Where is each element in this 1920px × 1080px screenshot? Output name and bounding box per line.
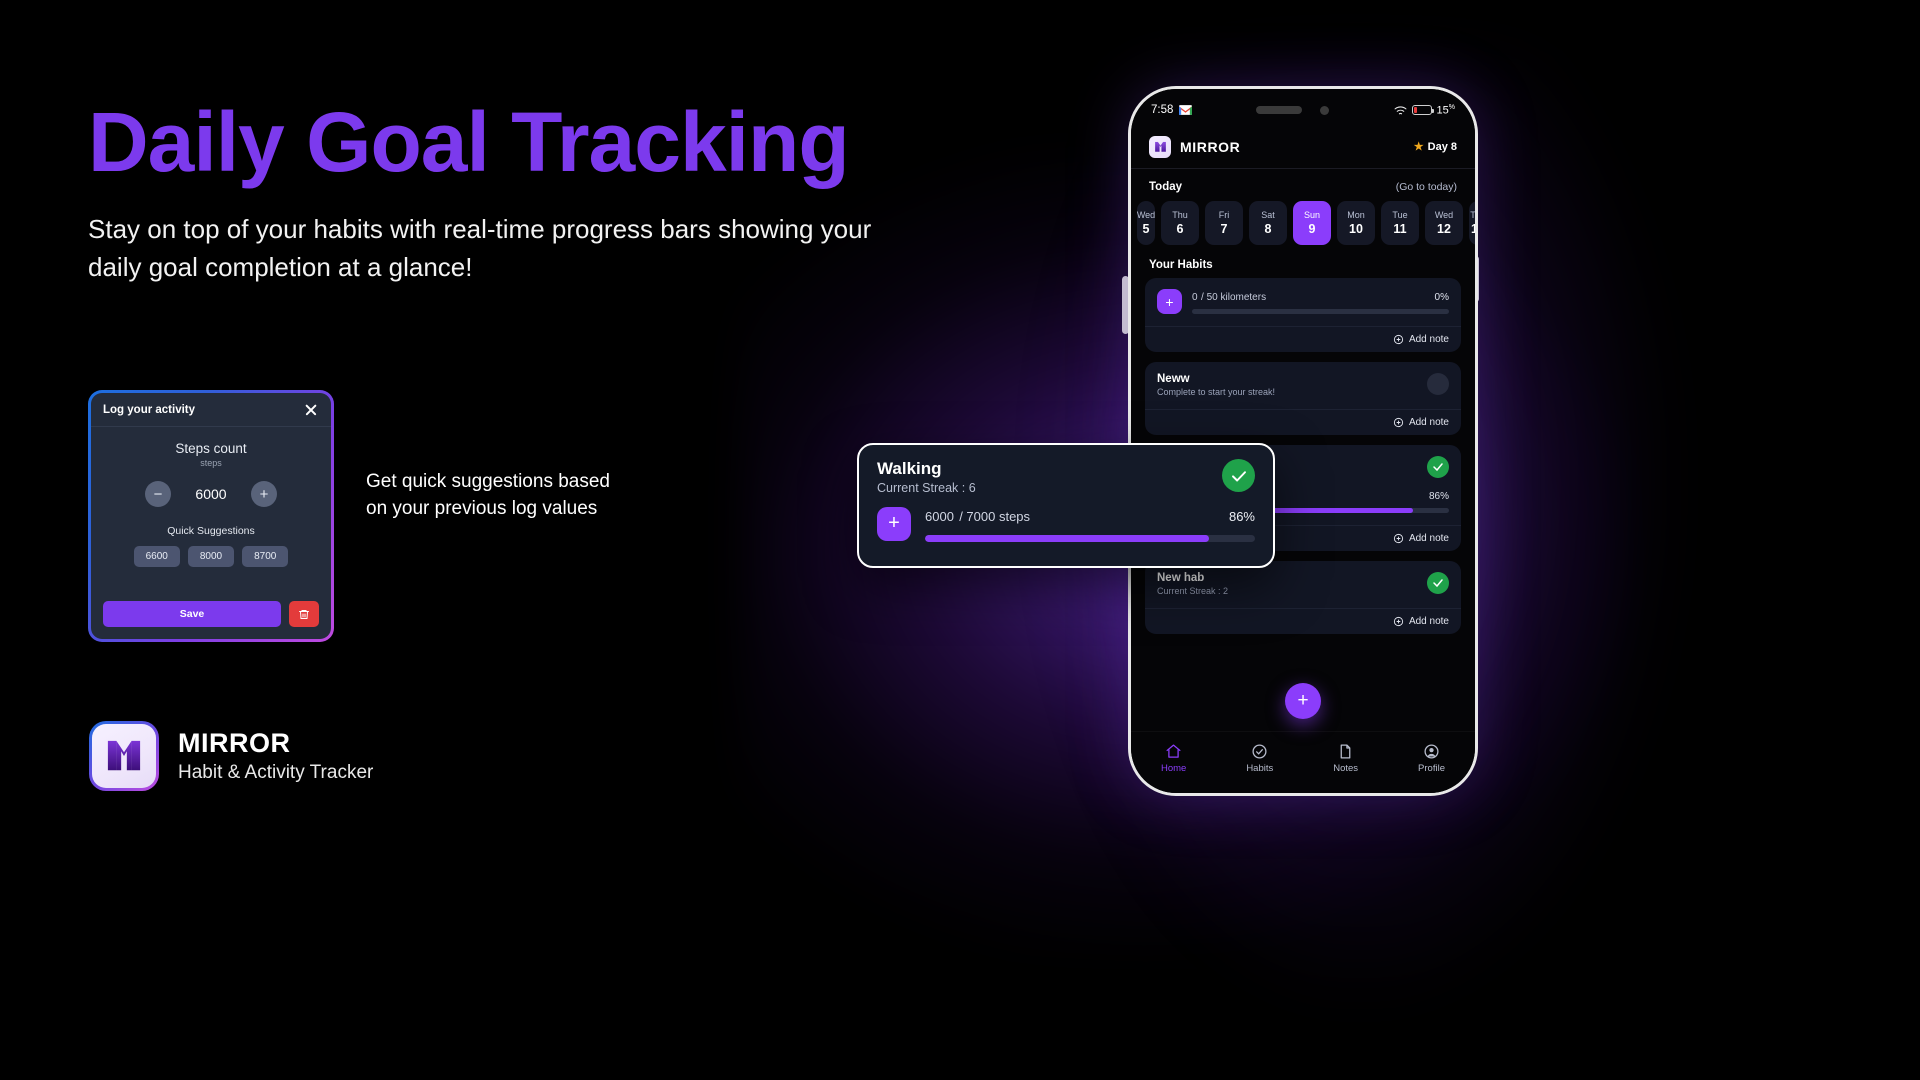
quick-suggestions-row: 6600 8000 8700 <box>103 546 319 567</box>
gmail-icon <box>1179 105 1192 115</box>
headline-block: Daily Goal Tracking Stay on top of your … <box>88 96 908 286</box>
decrement-button[interactable]: − <box>145 481 171 507</box>
habit-name: Neww <box>1157 373 1275 385</box>
nav-label: Habits <box>1246 763 1273 774</box>
suggestion-chip[interactable]: 8700 <box>242 546 288 567</box>
nav-item-profile[interactable]: Profile <box>1418 743 1445 774</box>
add-note-label: Add note <box>1409 417 1449 428</box>
status-bar: 7:58 15% <box>1131 89 1475 125</box>
habits-section-title: Your Habits <box>1131 255 1475 278</box>
app-logo <box>1149 136 1171 158</box>
habit-complete-toggle[interactable] <box>1427 572 1449 594</box>
person-icon <box>1423 743 1440 760</box>
plus-circle-icon <box>1393 417 1404 428</box>
date-dow: Thu <box>1470 210 1475 220</box>
plus-circle-icon <box>1393 616 1404 627</box>
date-dow: Sat <box>1261 210 1275 220</box>
mirror-logo-icon <box>105 738 143 774</box>
today-row: Today (Go to today) <box>1131 169 1475 201</box>
date-num: 10 <box>1349 222 1363 236</box>
habit-complete-toggle[interactable] <box>1427 456 1449 478</box>
habit-subtitle: Complete to start your streak! <box>1157 387 1275 397</box>
habit-value: 0 <box>1192 292 1198 303</box>
add-note-button[interactable]: Add note <box>1145 409 1461 435</box>
nav-label: Home <box>1161 763 1186 774</box>
suggestion-chip[interactable]: 8000 <box>188 546 234 567</box>
date-num: 12 <box>1437 222 1451 236</box>
document-icon <box>1337 743 1354 760</box>
day-streak-badge: ★ Day 8 <box>1414 140 1457 153</box>
date-dow: Thu <box>1172 210 1188 220</box>
habit-percent: 0% <box>1435 292 1449 303</box>
date-num: 13 <box>1471 222 1475 236</box>
add-note-label: Add note <box>1409 616 1449 627</box>
date-num: 7 <box>1221 222 1228 236</box>
phone-mockup: 7:58 15% <box>1128 86 1478 796</box>
date-num: 6 <box>1177 222 1184 236</box>
date-num: 5 <box>1143 222 1150 236</box>
habit-card[interactable]: New hab Current Streak : 2 Add note <box>1145 561 1461 634</box>
field-label: Steps count <box>103 441 319 456</box>
date-dow: Sun <box>1304 210 1320 220</box>
suggestion-chip[interactable]: 6600 <box>134 546 180 567</box>
card-streak: Current Streak : 6 <box>877 481 976 495</box>
battery-unit: % <box>1449 104 1455 111</box>
page-subtitle: Stay on top of your habits with real-tim… <box>88 210 908 286</box>
check-icon <box>1432 577 1444 589</box>
progress-bar <box>1192 309 1449 314</box>
card-value: 6000 <box>925 509 954 524</box>
date-chip[interactable]: Wed 12 <box>1425 201 1463 245</box>
home-icon <box>1165 743 1182 760</box>
plus-circle-icon <box>1393 334 1404 345</box>
app-name: MIRROR <box>1180 139 1240 155</box>
close-icon[interactable] <box>303 402 319 418</box>
date-chip[interactable]: Thu 13 <box>1469 201 1475 245</box>
date-dow: Mon <box>1347 210 1365 220</box>
nav-label: Profile <box>1418 763 1445 774</box>
phone-camera <box>1320 106 1329 115</box>
habit-complete-toggle[interactable] <box>1427 373 1449 395</box>
brand-name: MIRROR <box>178 728 373 759</box>
date-chip[interactable]: Fri 7 <box>1205 201 1243 245</box>
today-label: Today <box>1149 181 1182 193</box>
date-strip[interactable]: Wed 5 Thu 6 Fri 7 Sat 8 Sun 9 Mon 10 <box>1131 201 1475 255</box>
card-habit-name: Walking <box>877 459 976 479</box>
habit-card[interactable]: Neww Complete to start your streak! Add … <box>1145 362 1461 435</box>
check-icon <box>1432 461 1444 473</box>
habit-target: / 50 kilometers <box>1201 292 1266 303</box>
habit-percent: 86% <box>1429 491 1449 502</box>
app-header: MIRROR ★ Day 8 <box>1131 125 1475 169</box>
add-note-label: Add note <box>1409 533 1449 544</box>
date-num: 8 <box>1265 222 1272 236</box>
card-percent: 86% <box>1229 509 1255 524</box>
habit-name: New hab <box>1157 572 1228 584</box>
check-circle-icon <box>1251 743 1268 760</box>
card-complete-toggle[interactable] <box>1222 459 1255 492</box>
date-dow: Wed <box>1435 210 1453 220</box>
brand-lockup: MIRROR Habit & Activity Tracker <box>89 721 373 791</box>
battery-level: 15 <box>1437 104 1449 116</box>
quantity-stepper: − 6000 + <box>103 481 319 507</box>
day-label: Day 8 <box>1428 141 1457 153</box>
date-chip[interactable]: Sat 8 <box>1249 201 1287 245</box>
mirror-logo-icon <box>1154 141 1167 153</box>
card-target: / 7000 steps <box>959 509 1030 524</box>
battery-low-icon <box>1412 105 1432 115</box>
status-time: 7:58 <box>1151 104 1173 116</box>
suggestion-caption: Get quick suggestions based on your prev… <box>366 468 616 522</box>
date-chip[interactable]: Wed 5 <box>1137 201 1155 245</box>
add-habit-fab[interactable]: + <box>1285 683 1321 719</box>
date-chip[interactable]: Tue 11 <box>1381 201 1419 245</box>
card-progress-fill <box>925 535 1209 542</box>
card-add-progress-button[interactable]: + <box>877 507 911 541</box>
walking-highlight-card[interactable]: Walking Current Streak : 6 + 6000 / 7000… <box>857 443 1275 568</box>
add-note-button[interactable]: Add note <box>1145 608 1461 634</box>
date-dow: Tue <box>1392 210 1407 220</box>
quick-suggestions-label: Quick Suggestions <box>103 525 319 537</box>
card-progress-bar <box>925 535 1255 542</box>
steps-value[interactable]: 6000 <box>189 486 233 502</box>
nav-item-habits[interactable]: Habits <box>1246 743 1273 774</box>
add-progress-button[interactable]: + <box>1157 289 1182 314</box>
brand-tagline: Habit & Activity Tracker <box>178 762 373 784</box>
date-chip-selected[interactable]: Sun 9 <box>1293 201 1331 245</box>
date-num: 9 <box>1309 222 1316 236</box>
brand-logo-frame <box>89 721 159 791</box>
nav-label: Notes <box>1333 763 1358 774</box>
dialog-header: Log your activity <box>91 393 331 427</box>
bottom-navigation: Home Habits Notes Profile <box>1131 731 1475 793</box>
save-button[interactable]: Save <box>103 601 281 627</box>
nav-item-home[interactable]: Home <box>1161 743 1186 774</box>
date-num: 11 <box>1393 222 1406 236</box>
goto-today-link[interactable]: (Go to today) <box>1396 181 1457 193</box>
add-note-button[interactable]: Add note <box>1145 326 1461 352</box>
date-dow: Fri <box>1219 210 1230 220</box>
trash-icon <box>298 608 310 621</box>
dialog-title: Log your activity <box>103 404 195 416</box>
log-activity-dialog: Log your activity Steps count steps − 60… <box>88 390 334 642</box>
habit-card[interactable]: + 0 / 50 kilometers 0% Add note <box>1145 278 1461 352</box>
wifi-icon <box>1394 105 1407 116</box>
phone-speaker <box>1256 106 1302 114</box>
field-unit: steps <box>103 458 319 468</box>
star-icon: ★ <box>1414 140 1424 153</box>
increment-button[interactable]: + <box>251 481 277 507</box>
nav-item-notes[interactable]: Notes <box>1333 743 1358 774</box>
check-icon <box>1230 467 1248 485</box>
page-title: Daily Goal Tracking <box>88 96 908 188</box>
date-chip[interactable]: Mon 10 <box>1337 201 1375 245</box>
habit-subtitle: Current Streak : 2 <box>1157 586 1228 596</box>
date-chip[interactable]: Thu 6 <box>1161 201 1199 245</box>
delete-button[interactable] <box>289 601 319 627</box>
date-dow: Wed <box>1137 210 1155 220</box>
plus-circle-icon <box>1393 533 1404 544</box>
add-note-label: Add note <box>1409 334 1449 345</box>
